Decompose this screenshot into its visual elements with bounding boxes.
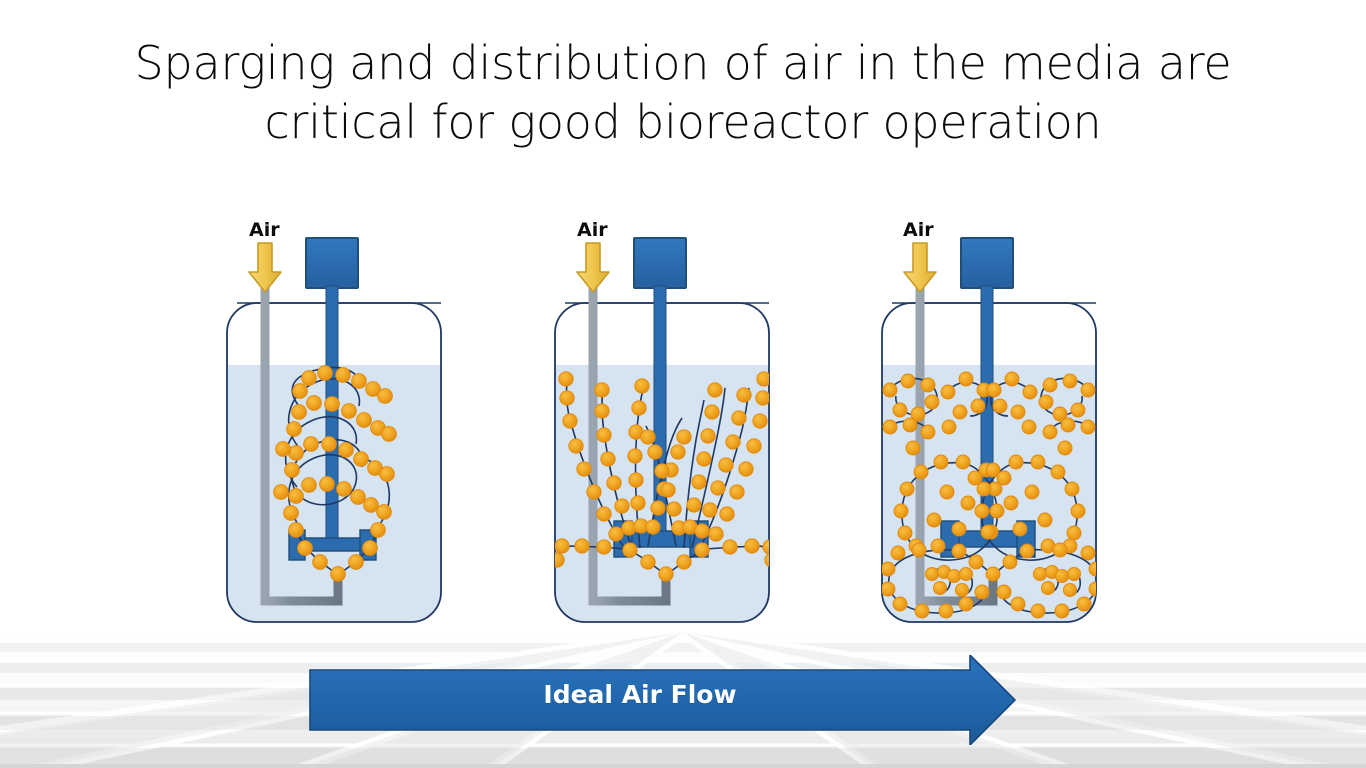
reactor-1-shaft: [326, 286, 338, 544]
air-label-reactor-1: Air: [249, 219, 280, 241]
reactor-2-motor: [634, 238, 686, 288]
reactor-1-air-arrow: [249, 243, 281, 292]
reactor-3-group: [880, 238, 1103, 625]
reactor-1-motor: [306, 238, 358, 288]
air-label-reactor-2: Air: [577, 219, 608, 241]
air-label-reactor-3: Air: [903, 219, 934, 241]
ideal-air-flow-arrow: [305, 655, 1020, 745]
reactor-1-group: [225, 238, 445, 625]
reactor-3-motor: [961, 238, 1013, 288]
slide-canvas: Sparging and distribution of air in the …: [0, 0, 1366, 768]
reactor-3-air-arrow: [904, 243, 936, 292]
reactor-2-group: [550, 238, 779, 625]
slide-title: Sparging and distribution of air in the …: [0, 34, 1366, 152]
reactor-2-air-arrow: [577, 243, 609, 292]
